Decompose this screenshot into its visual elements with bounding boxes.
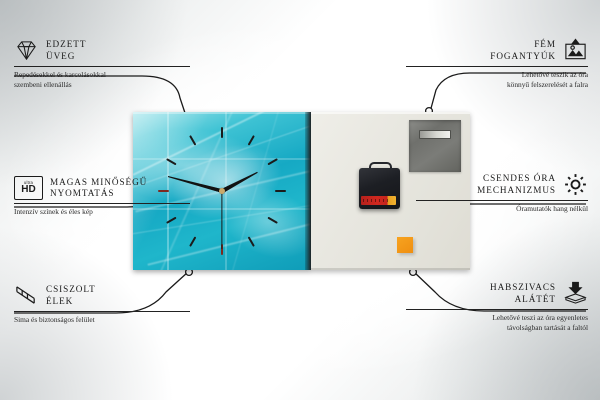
callout-subtitle: Lehetővé teszik az óra könnyű felszerelé…: [406, 70, 588, 89]
callout-subtitle: Sima és biztonságos felület: [14, 315, 190, 325]
callout-title: FÉM FOGANTYÚK: [490, 39, 556, 62]
diamond-icon: [14, 38, 39, 63]
battery-label: [363, 199, 389, 202]
callout-title: CSISZOLT ÉLEK: [46, 284, 96, 307]
callout-csiszolt-elek: CSISZOLT ÉLEK Sima és biztonságos felüle…: [14, 283, 190, 325]
callout-subtitle: Intenzív színek és éles kép: [14, 207, 190, 217]
callout-divider: [14, 66, 190, 67]
callout-edzett-uveg: EDZETT ÜVEG Repedésekkel és karcolásokka…: [14, 38, 190, 89]
callout-divider: [14, 311, 190, 312]
polished-edges-icon: [14, 283, 39, 308]
callout-csendes-ora-mechanizmus: CSENDES ÓRA MECHANIZMUS Óramutatók hang …: [416, 172, 588, 214]
callout-divider: [406, 66, 588, 67]
metal-hanger-plate: [409, 120, 461, 172]
callout-title: MAGAS MINŐSÉGŰ NYOMTATÁS: [50, 177, 147, 200]
callout-title: HABSZIVACS ALÁTÉT: [490, 282, 556, 305]
callout-divider: [406, 309, 588, 310]
clock-tick: [222, 190, 286, 192]
clock-tick: [221, 127, 223, 191]
ultra-hd-icon: ultra HD: [14, 176, 43, 200]
glass-top-edge: [133, 112, 311, 114]
callout-fem-fogantyuk: FÉM FOGANTYÚK Lehetővé teszik az óra kön…: [406, 38, 588, 89]
infographic-canvas: EDZETT ÜVEG Repedésekkel és karcolásokka…: [0, 0, 600, 400]
ultra-hd-icon-large-label: HD: [21, 185, 35, 195]
gear-icon: [563, 172, 588, 197]
callout-subtitle: Repedésekkel és karcolásokkal szembeni e…: [14, 70, 190, 89]
callout-divider: [416, 200, 588, 201]
clock-center-cap: [219, 188, 225, 194]
panel-bottom-edge: [311, 268, 470, 270]
foam-pad-icon: [563, 281, 588, 306]
callout-subtitle: Óramutatók hang nélkül: [416, 204, 588, 214]
panel-top-edge: [311, 112, 470, 114]
callout-title: EDZETT ÜVEG: [46, 39, 86, 62]
callout-title: CSENDES ÓRA MECHANIZMUS: [477, 173, 556, 196]
foam-pad: [397, 237, 413, 253]
callout-habszivacs-alatet: HABSZIVACS ALÁTÉT Lehetővé teszi az óra …: [406, 281, 588, 332]
callout-divider: [14, 203, 190, 204]
picture-hanger-icon: [563, 38, 588, 63]
callout-magas-minosegu-nyomtatas: ultra HD MAGAS MINŐSÉGŰ NYOMTATÁS Intenz…: [14, 176, 190, 217]
callout-subtitle: Lehetővé teszi az óra egyenletes távolsá…: [406, 313, 588, 332]
